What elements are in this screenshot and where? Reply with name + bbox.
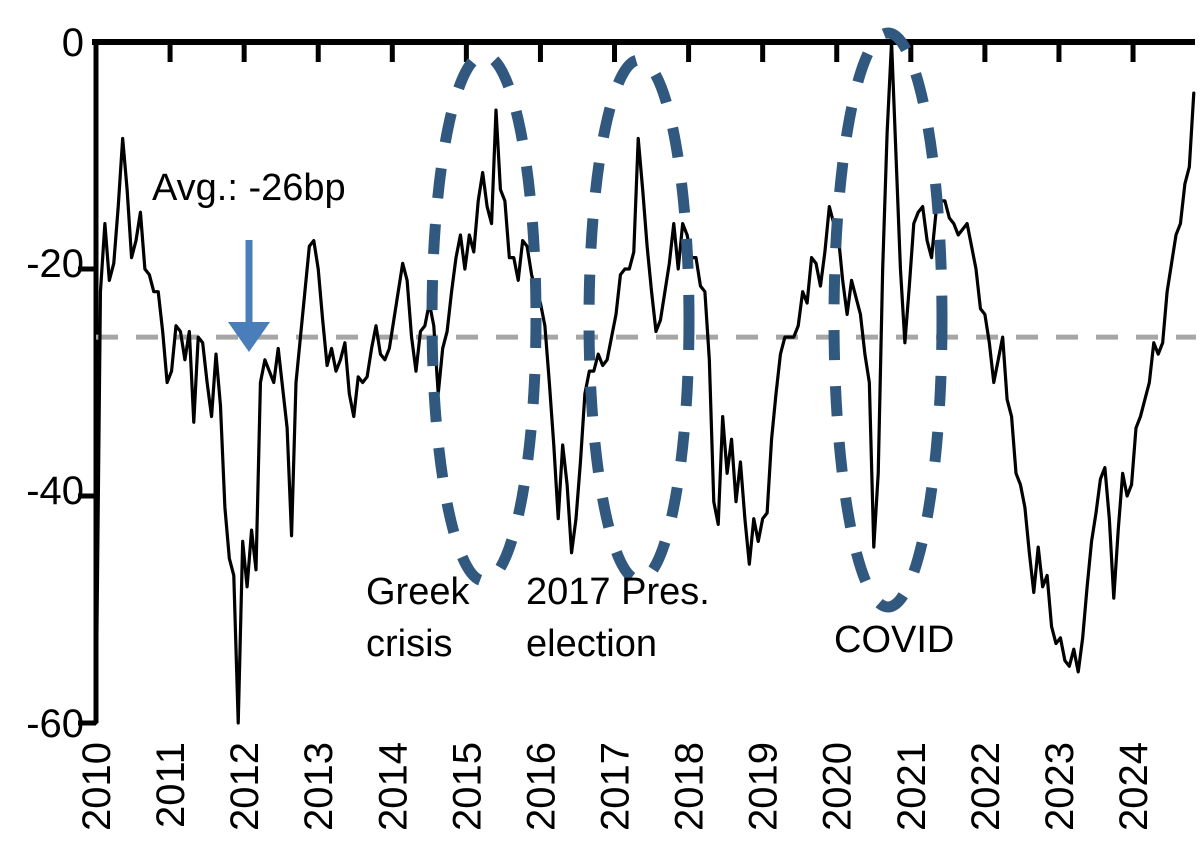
x-tick-label-2021: 2021 (890, 742, 934, 831)
annotation-pres-election-line2: election (526, 623, 657, 665)
annotation-covid: COVID (834, 619, 954, 661)
x-tick-label-2020: 2020 (816, 742, 860, 831)
x-tick-label-2019: 2019 (742, 742, 786, 831)
chart-root: 0 -20 -40 -60 20102011201220132014201520… (0, 0, 1200, 852)
annotation-pres-election-line1: 2017 Pres. (526, 571, 710, 613)
y-tick-label-0: 0 (62, 21, 84, 65)
average-annotation-label: Avg.: -26bp (152, 167, 346, 209)
annotation-greek-crisis-line2: crisis (366, 623, 453, 665)
annotation-greek-crisis-line1: Greek (366, 571, 470, 613)
x-tick-label-2011: 2011 (149, 742, 193, 828)
x-tick-label-2016: 2016 (519, 742, 563, 831)
x-tick-label-2023: 2023 (1038, 742, 1082, 831)
x-tick-label-2022: 2022 (964, 742, 1008, 831)
y-tick-label-minus40: -40 (26, 469, 84, 513)
x-tick-label-2024: 2024 (1112, 742, 1156, 831)
x-tick-label-2012: 2012 (223, 742, 267, 831)
x-tick-label-2017: 2017 (594, 742, 638, 831)
x-tick-label-2018: 2018 (668, 742, 712, 831)
y-tick-label-minus20: -20 (26, 242, 84, 286)
x-tick-label-2010: 2010 (75, 742, 119, 831)
y-tick-label-minus60: -60 (26, 702, 84, 746)
x-tick-label-2014: 2014 (371, 742, 415, 831)
line-chart: 0 -20 -40 -60 20102011201220132014201520… (0, 0, 1200, 852)
x-tick-label-2015: 2015 (445, 742, 489, 831)
x-tick-label-2013: 2013 (297, 742, 341, 831)
x-tick-labels-group: 2010201120122013201420152016201720182019… (75, 742, 1156, 831)
